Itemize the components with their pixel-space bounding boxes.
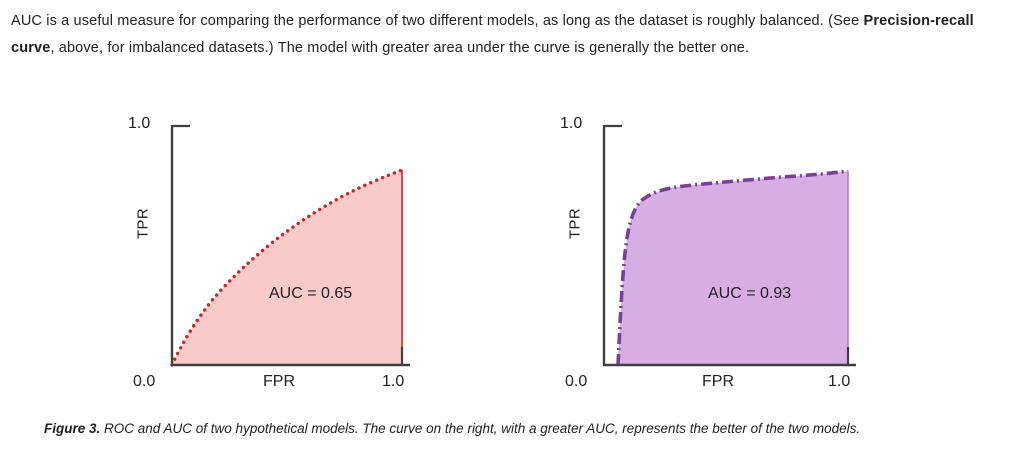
chart-left-plot (110, 95, 510, 400)
chart-right-y-axis-title: TPR (567, 199, 584, 249)
chart-right-y-max-label: 1.0 (560, 115, 582, 133)
chart-right-plot (542, 95, 942, 400)
chart-right-auc-label: AUC = 0.93 (708, 285, 791, 303)
chart-right-area-fill (618, 171, 848, 365)
chart-right-x-min-label: 0.0 (565, 373, 587, 391)
figure-caption-text: ROC and AUC of two hypothetical models. … (100, 421, 860, 436)
chart-right-x-max-label: 1.0 (828, 373, 850, 391)
chart-left-x-min-label: 0.0 (133, 373, 155, 391)
chart-left: 1.0 TPR 0.0 FPR 1.0 AUC = 0.65 (110, 95, 510, 400)
intro-text-part1: AUC is a useful measure for comparing th… (11, 13, 864, 29)
chart-left-y-axis-title: TPR (135, 199, 152, 249)
chart-right: 1.0 TPR 0.0 FPR 1.0 AUC = 0.93 (542, 95, 942, 400)
chart-right-x-axis-title: FPR (702, 373, 734, 391)
chart-left-x-axis-title: FPR (263, 373, 295, 391)
chart-left-auc-label: AUC = 0.65 (269, 285, 352, 303)
intro-paragraph: AUC is a useful measure for comparing th… (11, 8, 996, 62)
figure-number: Figure 3. (44, 421, 100, 436)
chart-left-y-max-label: 1.0 (128, 115, 150, 133)
chart-left-x-max-label: 1.0 (382, 373, 404, 391)
figure-caption: Figure 3. ROC and AUC of two hypothetica… (44, 418, 999, 440)
figure-area: 1.0 TPR 0.0 FPR 1.0 AUC = 0.65 1.0 TPR 0… (0, 95, 1010, 400)
chart-left-area-fill (172, 170, 402, 365)
intro-text-part2: , above, for imbalanced datasets.) The m… (50, 40, 749, 56)
